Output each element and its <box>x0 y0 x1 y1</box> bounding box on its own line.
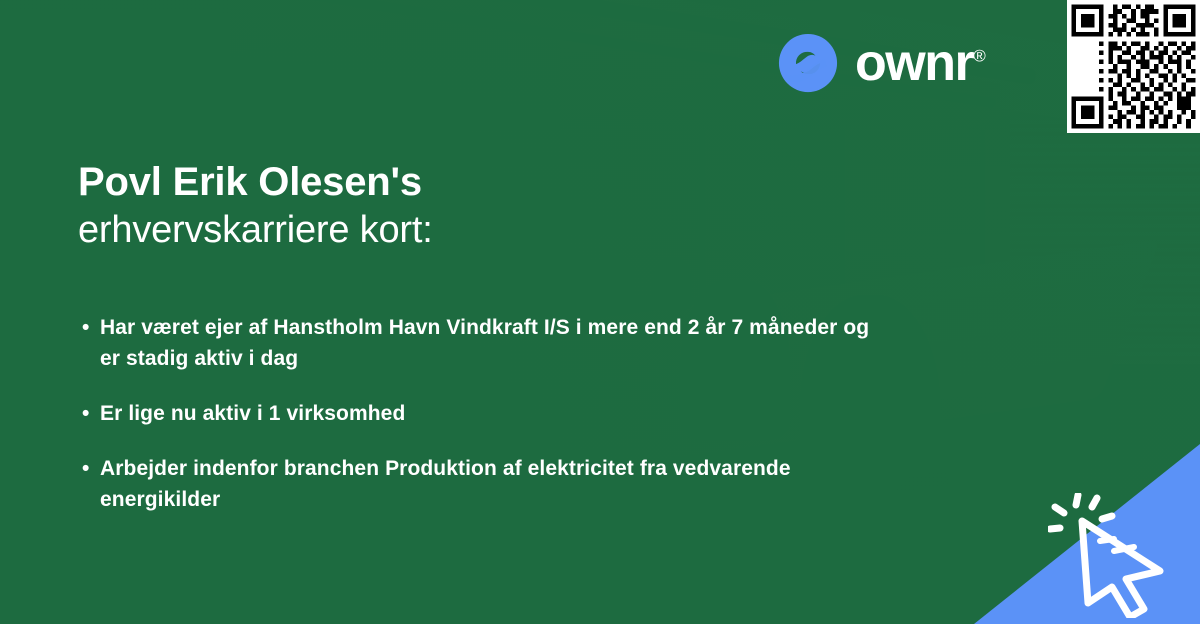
list-item: • Har været ejer af Hanstholm Havn Vindk… <box>82 312 882 374</box>
ownr-swirl-logomark-icon <box>777 32 839 94</box>
list-item-text: Har været ejer af Hanstholm Havn Vindkra… <box>100 312 882 374</box>
bullet-dot-icon: • <box>82 398 100 429</box>
registered-trademark-icon: ® <box>973 47 986 66</box>
bullet-dot-icon: • <box>82 312 100 343</box>
page-title: Povl Erik Olesen's erhvervskarriere kort… <box>78 158 433 254</box>
ownr-wordmark: ownr® <box>855 37 986 89</box>
list-item: • Arbejder indenfor branchen Produktion … <box>82 453 882 515</box>
bullet-dot-icon: • <box>82 453 100 484</box>
list-item-text: Arbejder indenfor branchen Produktion af… <box>100 453 882 515</box>
career-facts-list: • Har været ejer af Hanstholm Havn Vindk… <box>82 312 882 539</box>
list-item-text: Er lige nu aktiv i 1 virksomhed <box>100 398 882 429</box>
list-item: • Er lige nu aktiv i 1 virksomhed <box>82 398 882 429</box>
business-career-card: ownr® <box>0 0 1200 624</box>
qr-code-icon <box>1067 0 1200 133</box>
title-line-1: Povl Erik Olesen's <box>78 158 433 207</box>
ownr-logo[interactable]: ownr® <box>777 32 986 94</box>
qr-code[interactable] <box>1067 0 1200 133</box>
click-cursor-icon <box>1048 493 1188 618</box>
logo-word-text: ownr <box>855 34 973 92</box>
title-line-2: erhvervskarriere kort: <box>78 207 433 255</box>
